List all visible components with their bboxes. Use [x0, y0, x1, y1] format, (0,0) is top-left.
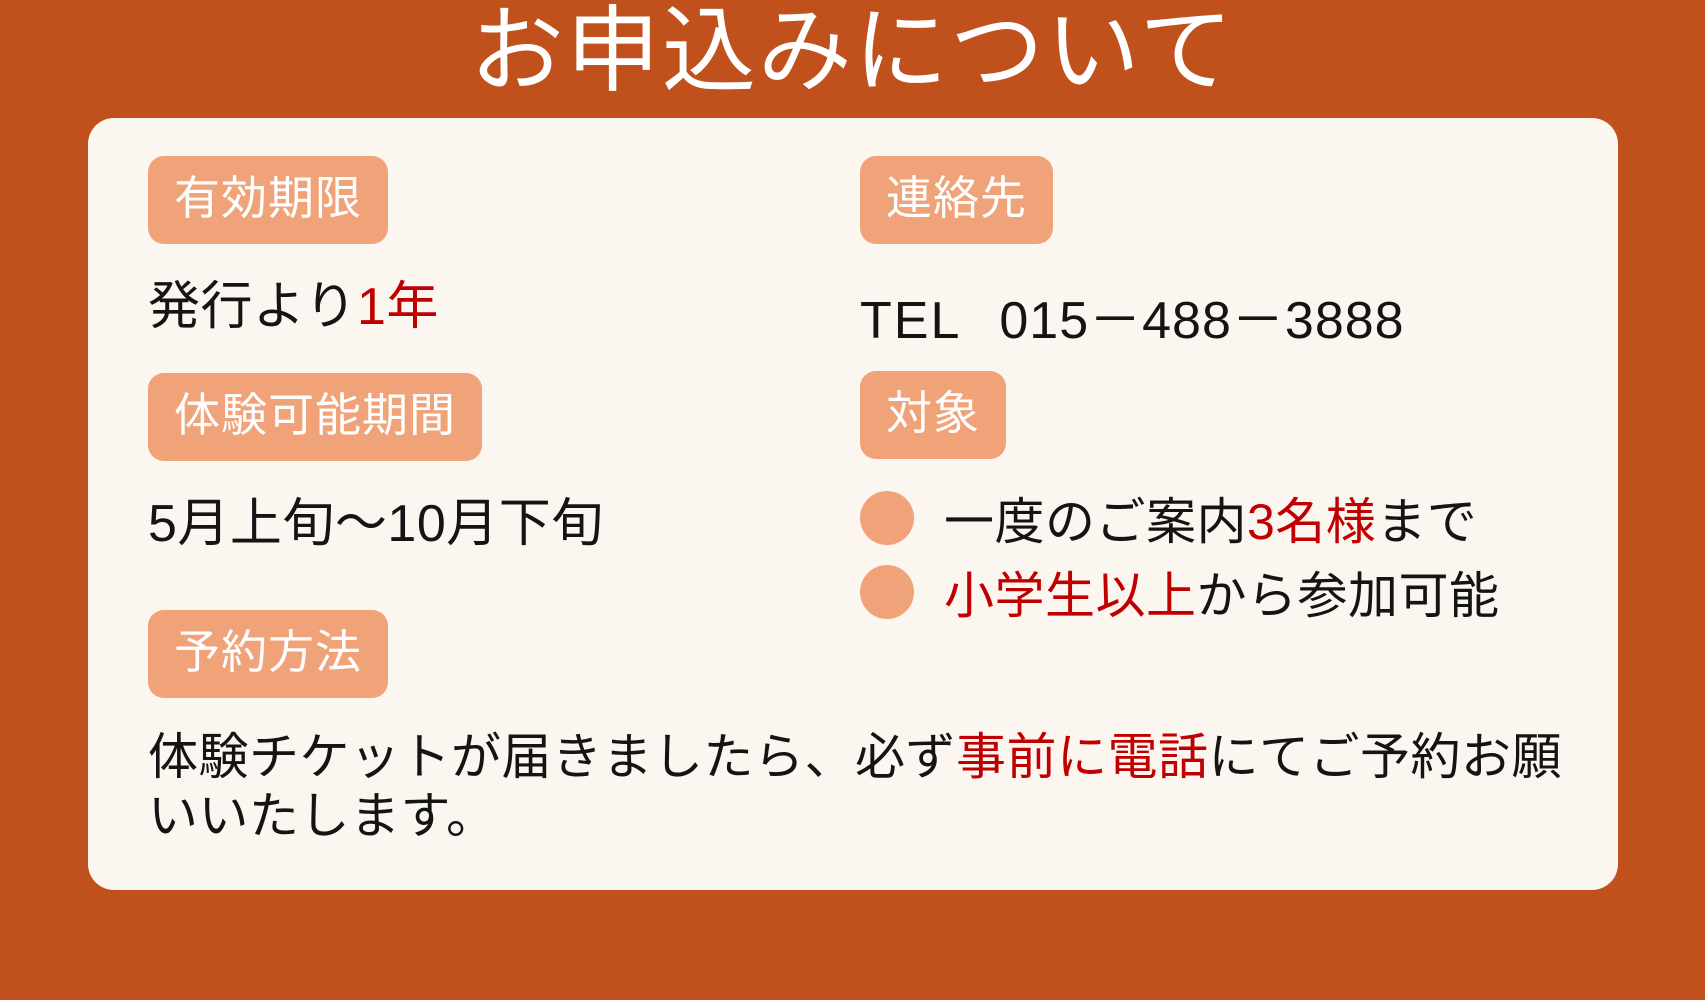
validity-badge: 有効期限 [148, 156, 388, 244]
validity-block: 有効期限 発行より1年 [148, 156, 439, 336]
period-badge: 体験可能期間 [148, 373, 482, 461]
list-item: 小学生以上から参加可能 [860, 559, 1500, 625]
telephone-number: 015－488－3888 [999, 292, 1404, 350]
reservation-paragraph-accent: 事前に電話 [956, 729, 1209, 785]
validity-text-prefix: 発行より [148, 278, 357, 336]
list-item: 一度のご案内3名様まで [860, 485, 1500, 551]
reservation-paragraph: 体験チケットが届きましたら、必ず事前に電話にてご予約お願いいたします。 [148, 728, 1568, 846]
validity-text: 発行より1年 [148, 278, 439, 336]
target-item-accent: 小学生以上 [944, 568, 1197, 624]
target-item-text: 一度のご案内3名様まで [944, 482, 1477, 554]
period-text: 5月上旬～10月下旬 [148, 495, 604, 553]
telephone-line: TEL015－488－3888 [860, 278, 1405, 353]
reservation-badge: 予約方法 [148, 610, 388, 698]
circle-bullet-icon [860, 565, 914, 619]
reservation-block: 予約方法 [148, 610, 388, 698]
target-item-accent: 3名様 [1247, 494, 1376, 550]
telephone-label: TEL [860, 292, 961, 350]
contact-block: 連絡先 TEL015－488－3888 [860, 156, 1405, 353]
contact-badge: 連絡先 [860, 156, 1053, 244]
target-item-prefix: 一度のご案内 [944, 494, 1247, 550]
target-list: 一度のご案内3名様まで 小学生以上から参加可能 [860, 485, 1500, 625]
reservation-paragraph-part1: 体験チケットが届きましたら、必ず [148, 729, 956, 785]
info-card: 有効期限 発行より1年 体験可能期間 5月上旬～10月下旬 予約方法 連絡先 T… [88, 118, 1618, 890]
target-item-suffix: まで [1376, 494, 1477, 550]
target-badge: 対象 [860, 371, 1006, 459]
period-block: 体験可能期間 5月上旬～10月下旬 [148, 373, 604, 553]
circle-bullet-icon [860, 491, 914, 545]
target-item-text: 小学生以上から参加可能 [944, 556, 1500, 628]
target-block: 対象 一度のご案内3名様まで 小学生以上から参加可能 [860, 371, 1500, 633]
target-item-suffix: から参加可能 [1197, 568, 1500, 624]
page-title: お申込みについて [0, 0, 1705, 112]
validity-text-accent: 1年 [357, 278, 439, 336]
